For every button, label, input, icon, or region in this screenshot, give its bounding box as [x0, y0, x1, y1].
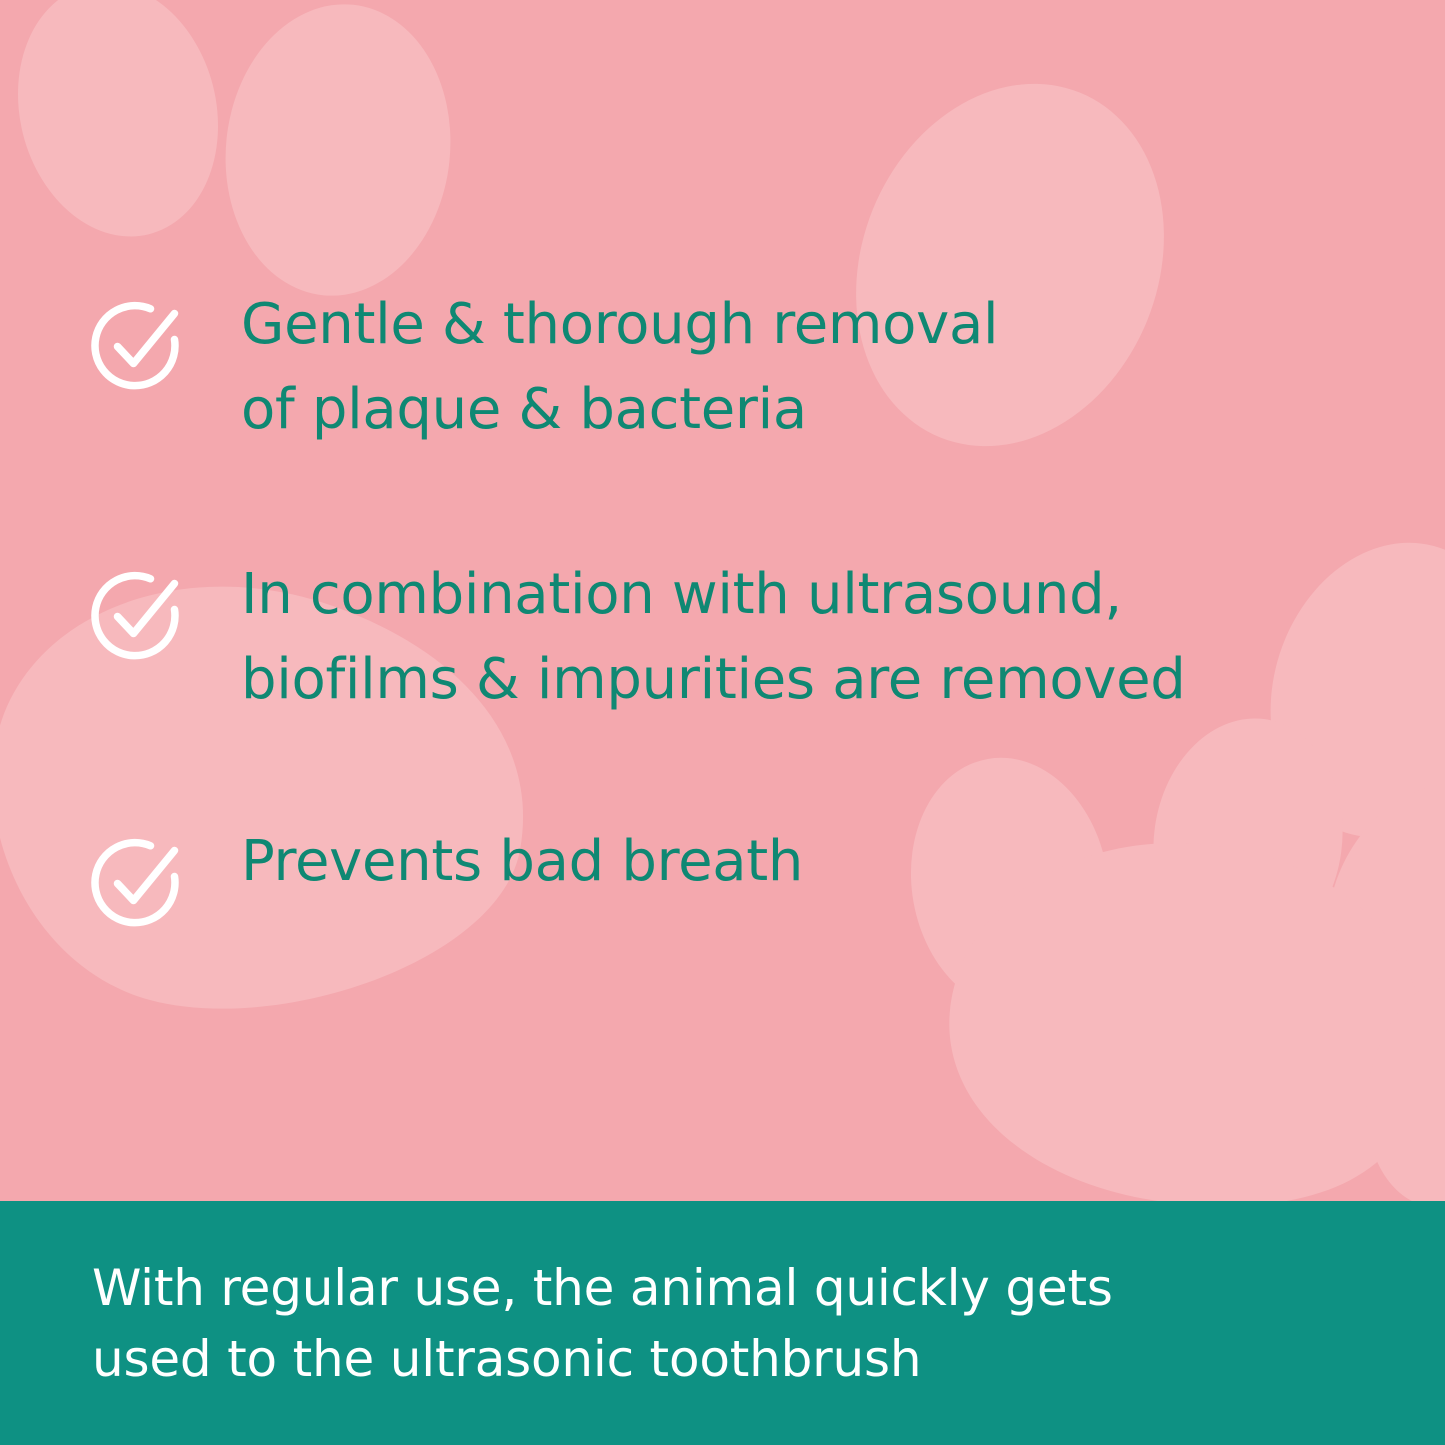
- benefit-label: In combination with ultrasound, biofilms…: [186, 552, 1186, 722]
- benefit-item: Gentle & thorough removal of plaque & ba…: [88, 296, 998, 452]
- check-circle-icon: [88, 833, 186, 931]
- footer-banner: With regular use, the animal quickly get…: [0, 1201, 1445, 1445]
- benefit-item: In combination with ultrasound, biofilms…: [88, 566, 1186, 722]
- promo-feature-card: Gentle & thorough removal of plaque & ba…: [0, 0, 1445, 1445]
- benefits-list: Gentle & thorough removal of plaque & ba…: [0, 0, 1445, 1201]
- benefit-item: Prevents bad breath: [88, 833, 803, 931]
- benefit-label: Gentle & thorough removal of plaque & ba…: [186, 282, 998, 452]
- benefit-label: Prevents bad breath: [186, 819, 803, 904]
- check-circle-icon: [88, 296, 186, 394]
- check-circle-icon: [88, 566, 186, 664]
- footer-message: With regular use, the animal quickly get…: [92, 1253, 1372, 1395]
